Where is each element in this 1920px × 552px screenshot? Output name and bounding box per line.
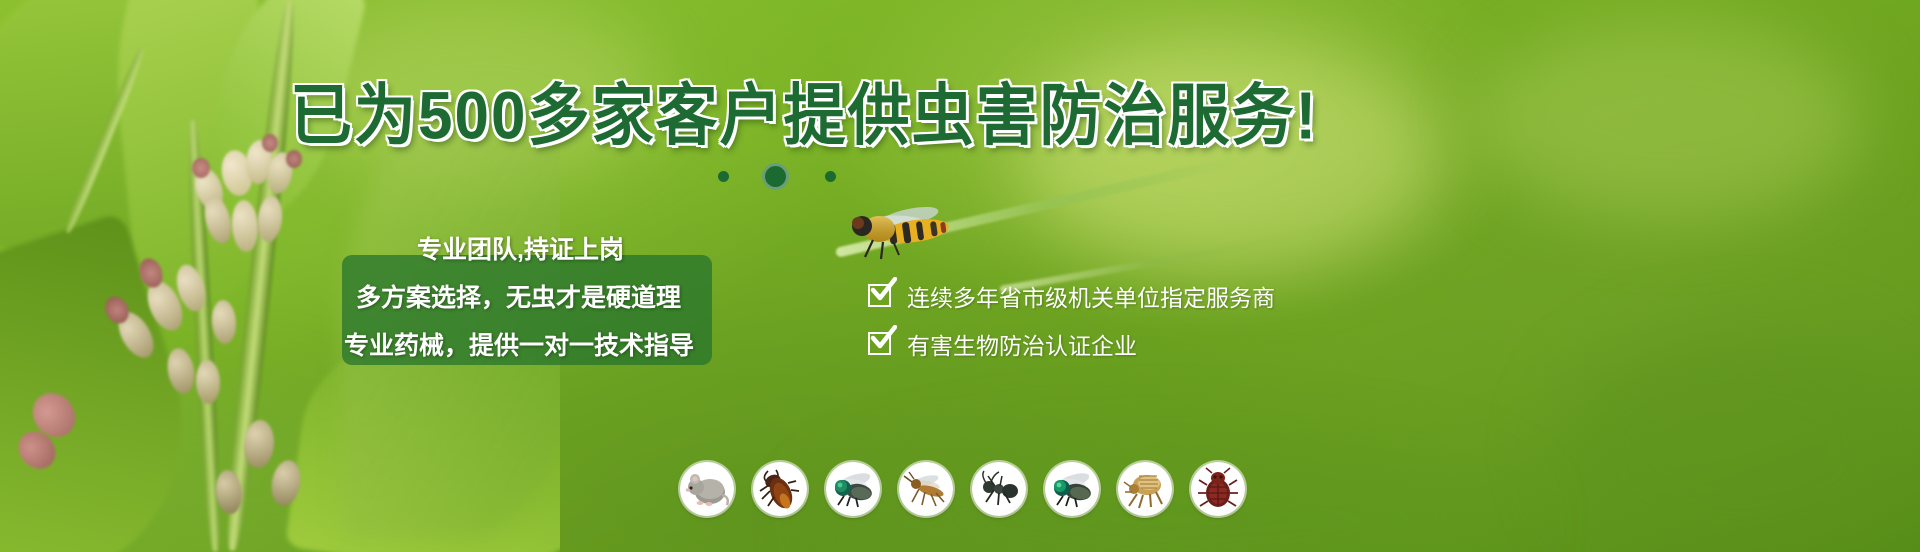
mouse-icon[interactable] [680, 462, 734, 516]
bokeh-blob [1480, 20, 1860, 220]
ant-icon[interactable] [972, 462, 1026, 516]
decor-dot-large-center [762, 163, 789, 190]
checkbox-checked-icon [868, 332, 893, 357]
list-item: 连续多年省市级机关单位指定服务商 [868, 272, 1508, 320]
certification-label: 有害生物防治认证企业 [907, 327, 1137, 361]
decor-dots [718, 160, 868, 194]
certification-list: 连续多年省市级机关单位指定服务商 有害生物防治认证企业 [868, 272, 1508, 368]
flea-icon[interactable] [1118, 462, 1172, 516]
feature-line-2: 多方案选择，无虫才是硬道理 [356, 278, 681, 314]
fly-icon[interactable] [826, 462, 880, 516]
page-title: 已为500多家客户提供虫害防治服务! [290, 78, 1300, 156]
blowfly-icon[interactable] [1045, 462, 1099, 516]
features-panel-text: 专业团队,持证上岗 多方案选择，无虫才是硬道理 专业药械，提供一对一技术指导 [342, 255, 742, 415]
decor-dot-small-left [718, 171, 729, 182]
pest-type-list [680, 462, 1245, 516]
feature-line-1: 专业团队,持证上岗 [417, 230, 624, 266]
hoverfly-icon [845, 195, 965, 265]
checkbox-checked-icon [868, 284, 893, 309]
list-item: 有害生物防治认证企业 [868, 320, 1508, 368]
decor-dot-small-right [825, 171, 836, 182]
pest-control-banner: 已为500多家客户提供虫害防治服务! 专业团队,持证上岗 多方案选择，无虫才是硬… [0, 0, 1920, 552]
cockroach-icon[interactable] [753, 462, 807, 516]
certification-label: 连续多年省市级机关单位指定服务商 [907, 279, 1275, 313]
mosquito-icon[interactable] [899, 462, 953, 516]
feature-line-3: 专业药械，提供一对一技术指导 [344, 326, 694, 362]
bedbug-icon[interactable] [1191, 462, 1245, 516]
